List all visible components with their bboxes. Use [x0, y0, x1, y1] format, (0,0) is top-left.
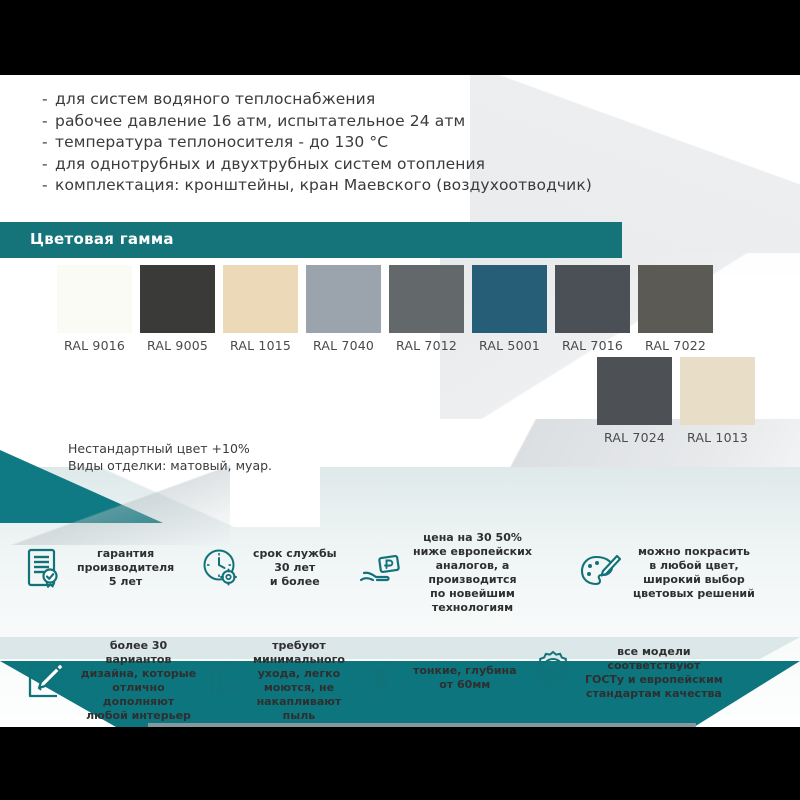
swatch-label: RAL 7024 — [597, 430, 672, 445]
spec-dash: - — [42, 154, 55, 176]
certificate-icon — [22, 545, 68, 591]
swatch-chip[interactable] — [680, 357, 755, 425]
feature-item-service-life: срок службы 30 лет и более — [198, 545, 358, 591]
spec-item: -для систем водяного теплоснабжения — [42, 89, 592, 111]
swatch-chip[interactable] — [140, 265, 215, 333]
swatch-chip[interactable] — [472, 265, 547, 333]
feature-label: гарантия производителя 5 лет — [77, 547, 174, 589]
swatch-label: RAL 7012 — [389, 338, 464, 353]
feature-label: все модели соответствуют ГОСТу и европей… — [585, 645, 723, 701]
color-swatch-row-primary: RAL 9016 RAL 9005 RAL 1015 RAL 7040 RAL … — [57, 265, 721, 353]
swatch-label: RAL 5001 — [472, 338, 547, 353]
color-note-line: Виды отделки: матовый, муар. — [68, 457, 272, 474]
slide-content: -для систем водяного теплоснабжения -раб… — [0, 75, 800, 727]
color-swatch[interactable]: RAL 7022 — [638, 265, 713, 353]
spec-item: -для однотрубных и двухтрубных систем от… — [42, 154, 592, 176]
spec-item-label: для систем водяного теплоснабжения — [55, 90, 375, 108]
swatch-chip[interactable] — [638, 265, 713, 333]
feature-label: требуют минимального ухода, легко моются… — [253, 639, 345, 723]
spec-list: -для систем водяного теплоснабжения -раб… — [42, 89, 592, 197]
color-swatch[interactable]: RAL 5001 — [472, 265, 547, 353]
swatch-chip[interactable] — [223, 265, 298, 333]
swatch-chip[interactable] — [389, 265, 464, 333]
feature-label: более 30 вариантов дизайна, которые отли… — [77, 639, 200, 723]
feature-label: цена на 30 50% ниже европейских аналогов… — [413, 531, 532, 615]
swatch-label: RAL 7022 — [638, 338, 713, 353]
swatch-label: RAL 1015 — [223, 338, 298, 353]
spec-item-label: рабочее давление 16 атм, испытательное 2… — [55, 112, 465, 130]
spec-dash: - — [42, 111, 55, 133]
color-swatch[interactable]: RAL 7040 — [306, 265, 381, 353]
swatch-chip[interactable] — [597, 357, 672, 425]
color-swatch[interactable]: RAL 1015 — [223, 265, 298, 353]
thumbs-up-badge-icon — [530, 650, 576, 696]
feature-item-easy-care: требуют минимального ухода, легко моются… — [198, 639, 358, 723]
slide-canvas: -для систем водяного теплоснабжения -раб… — [0, 0, 800, 800]
spec-dash: - — [42, 89, 55, 111]
spec-item-label: для однотрубных и двухтрубных систем ото… — [55, 155, 485, 173]
spec-dash: - — [42, 132, 55, 154]
swatch-label: RAL 7040 — [306, 338, 381, 353]
feature-label: можно покрасить в любой цвет, широкий вы… — [633, 545, 755, 601]
feature-item-standards: все модели соответствуют ГОСТу и европей… — [530, 645, 780, 701]
clock-gear-icon — [198, 545, 244, 591]
feature-item-paintable: можно покрасить в любой цвет, широкий вы… — [578, 545, 788, 601]
spec-item: -рабочее давление 16 атм, испытательное … — [42, 111, 592, 133]
color-swatch[interactable]: RAL 7016 — [555, 265, 630, 353]
swatch-chip[interactable] — [306, 265, 381, 333]
pencil-paper-icon — [22, 658, 68, 704]
color-swatch[interactable]: RAL 9005 — [140, 265, 215, 353]
color-swatch[interactable]: RAL 9016 — [57, 265, 132, 353]
spec-item-label: комплектация: кронштейны, кран Маевского… — [55, 176, 592, 194]
color-gamma-title: Цветовая гамма — [30, 230, 174, 248]
hand-ruble-icon — [358, 550, 404, 596]
spray-sponge-icon — [198, 658, 244, 704]
feature-item-price: цена на 30 50% ниже европейских аналогов… — [358, 531, 558, 615]
feature-item-design-variants: более 30 вариантов дизайна, которые отли… — [22, 639, 200, 723]
color-swatch-row-secondary: RAL 7024 RAL 1013 — [597, 357, 763, 445]
depth-arrows-icon — [358, 655, 404, 701]
spec-dash: - — [42, 175, 55, 197]
swatch-label: RAL 1013 — [680, 430, 755, 445]
feature-item-warranty: гарантия производителя 5 лет — [22, 545, 192, 591]
color-notes: Нестандартный цвет +10% Виды отделки: ма… — [68, 440, 272, 474]
color-swatch[interactable]: RAL 7012 — [389, 265, 464, 353]
color-swatch[interactable]: RAL 7024 — [597, 357, 672, 445]
color-swatch[interactable]: RAL 1013 — [680, 357, 755, 445]
swatch-chip[interactable] — [555, 265, 630, 333]
feature-label: срок службы 30 лет и более — [253, 547, 337, 589]
swatch-label: RAL 9016 — [57, 338, 132, 353]
swatch-label: RAL 9005 — [140, 338, 215, 353]
swatch-label: RAL 7016 — [555, 338, 630, 353]
feature-label: тонкие, глубина от 60мм — [413, 664, 517, 692]
spec-item: -температура теплоносителя - до 130 °C — [42, 132, 592, 154]
spec-item: -комплектация: кронштейны, кран Маевског… — [42, 175, 592, 197]
spec-item-label: температура теплоносителя - до 130 °C — [55, 133, 388, 151]
palette-brush-icon — [578, 550, 624, 596]
swatch-chip[interactable] — [57, 265, 132, 333]
feature-item-slim-depth: тонкие, глубина от 60мм — [358, 655, 538, 701]
color-note-line: Нестандартный цвет +10% — [68, 440, 272, 457]
letterbox-bottom-bar — [0, 727, 800, 800]
letterbox-top-bar — [0, 0, 800, 75]
